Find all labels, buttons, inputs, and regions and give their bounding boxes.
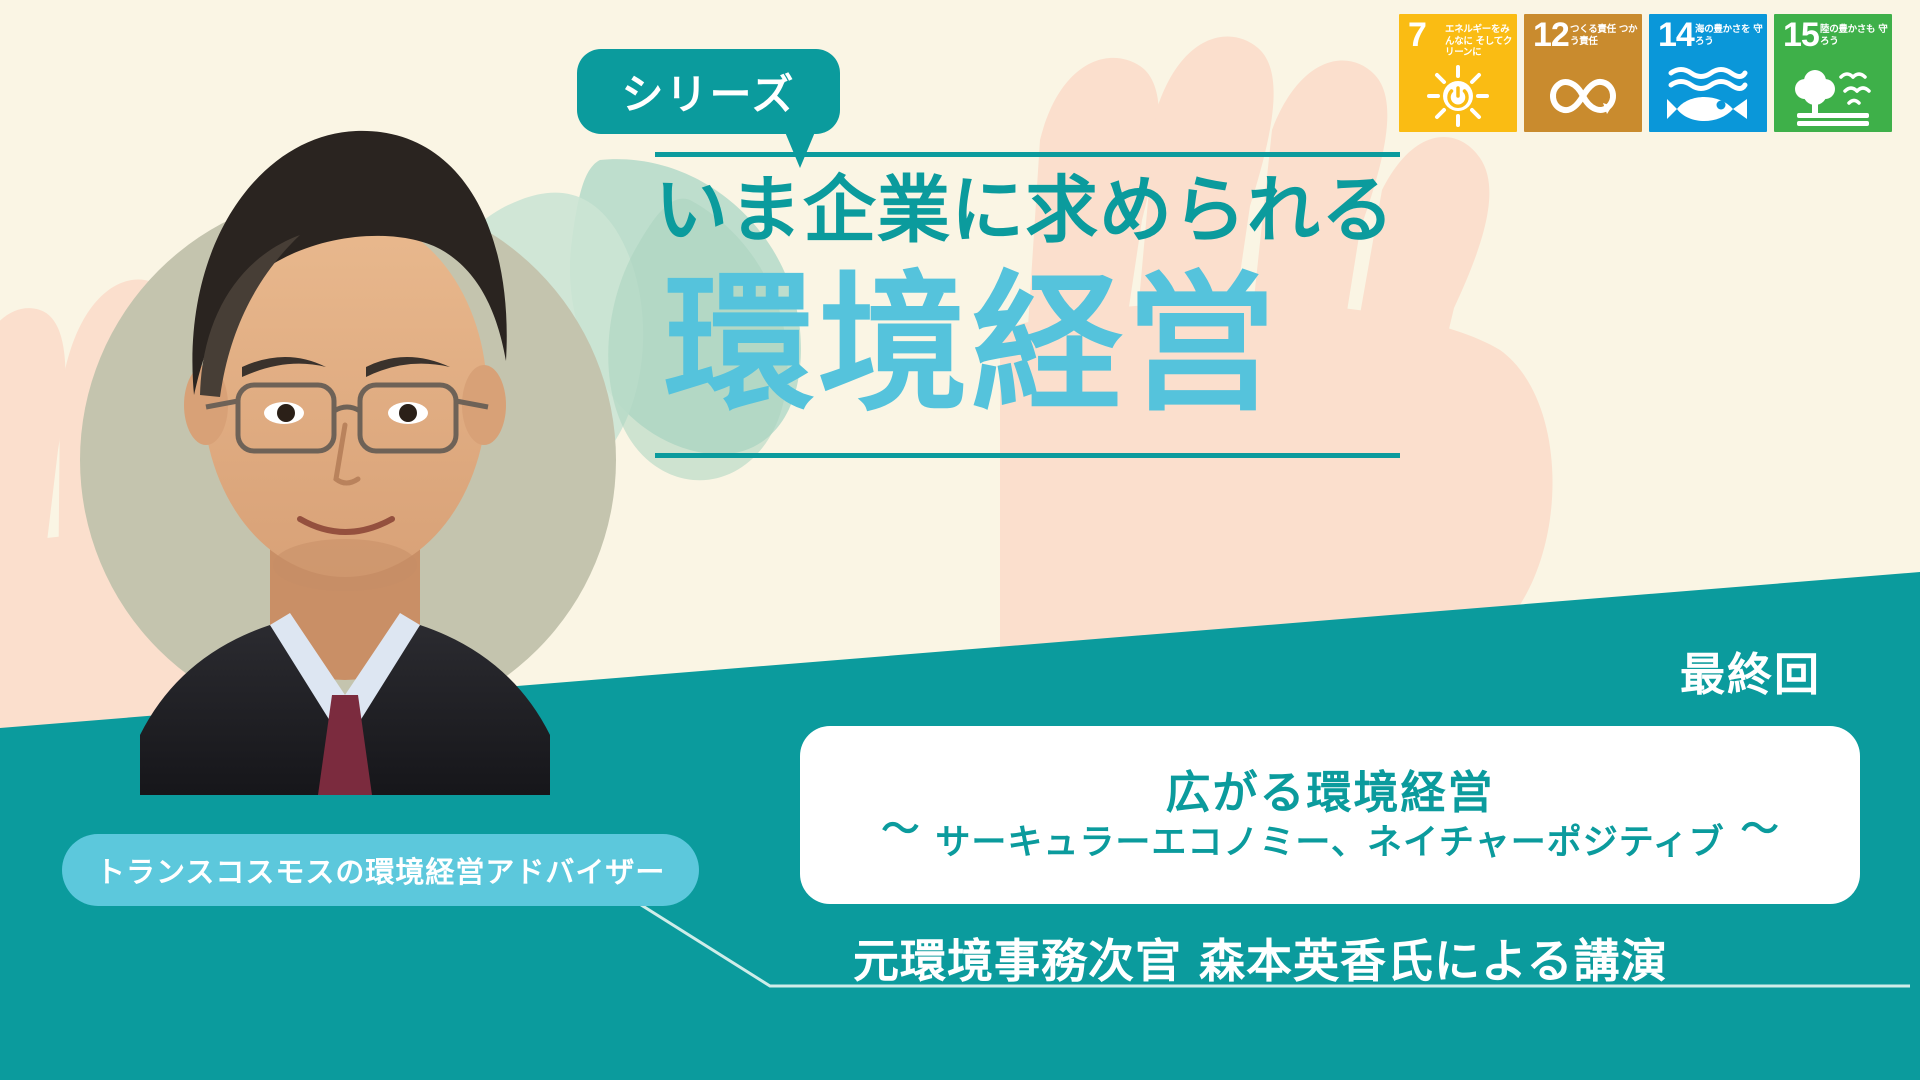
final-episode-label: 最終回 [1680,648,1821,701]
tilde-right-icon: 〜 [1741,809,1779,849]
infinity-recycle-icon [1524,66,1642,126]
speaker-credit: 元環境事務次官 森本英香氏による講演 [853,925,1668,991]
title-block: いま企業に求められる [655,152,1400,253]
speaker-credit-label: 元環境事務次官 森本英香氏による講演 [853,934,1668,988]
poster-canvas: シリーズ いま企業に求められる 環境経営 トランスコスモスの環境経営アドバイザー… [0,0,1920,1080]
sdg-badge-7-number: 7 [1408,18,1426,52]
subject-card-subtitle: サーキュラーエコノミー、ネイチャーポジティブ [935,822,1724,864]
role-pill-label: トランスコスモスの環境経営アドバイザー [96,849,665,891]
series-badge-label: シリーズ [622,61,796,122]
series-badge: シリーズ [577,49,840,134]
sdg-badge-row: 7 エネルギーをみんなに そしてクリーンに [1399,14,1892,132]
subject-card-subtitle-row: 〜 サーキュラーエコノミー、ネイチャーポジティブ 〜 [881,822,1778,864]
sdg-badge-14-number: 14 [1658,18,1694,52]
title-rule-top [655,152,1400,157]
subject-card-title: 広がる環境経営 [1165,766,1494,820]
sdg-badge-12[interactable]: 12 つくる責任 つかう責任 [1524,14,1642,132]
role-pill: トランスコスモスの環境経営アドバイザー [62,834,699,906]
sdg-badge-12-text: つくる責任 つかう責任 [1570,24,1638,47]
tilde-left-icon: 〜 [881,809,919,849]
sdg-badge-15-number: 15 [1783,18,1819,52]
sdg-badge-15-text: 陸の豊かさも 守ろう [1820,24,1888,47]
title-line-2: 環境経営 [664,265,1280,425]
sun-power-icon [1399,66,1517,126]
sdg-badge-12-number: 12 [1533,18,1569,52]
title-line-1: いま企業に求められる [655,159,1400,253]
sdg-badge-15[interactable]: 15 陸の豊かさも 守ろう [1774,14,1892,132]
speaker-portrait [110,95,580,795]
title-rule-bottom [655,453,1400,458]
fish-waves-icon [1649,66,1767,126]
sdg-badge-7-text: エネルギーをみんなに そしてクリーンに [1445,24,1513,59]
sdg-badge-14[interactable]: 14 海の豊かさを 守ろう [1649,14,1767,132]
sdg-badge-14-text: 海の豊かさを 守ろう [1695,24,1763,47]
sdg-badge-7[interactable]: 7 エネルギーをみんなに そしてクリーンに [1399,14,1517,132]
final-episode-badge: 最終回 [1680,638,1821,703]
portrait-illustration [110,95,580,795]
subject-card: 広がる環境経営 〜 サーキュラーエコノミー、ネイチャーポジティブ 〜 [800,726,1860,904]
tree-birds-icon [1774,66,1892,126]
